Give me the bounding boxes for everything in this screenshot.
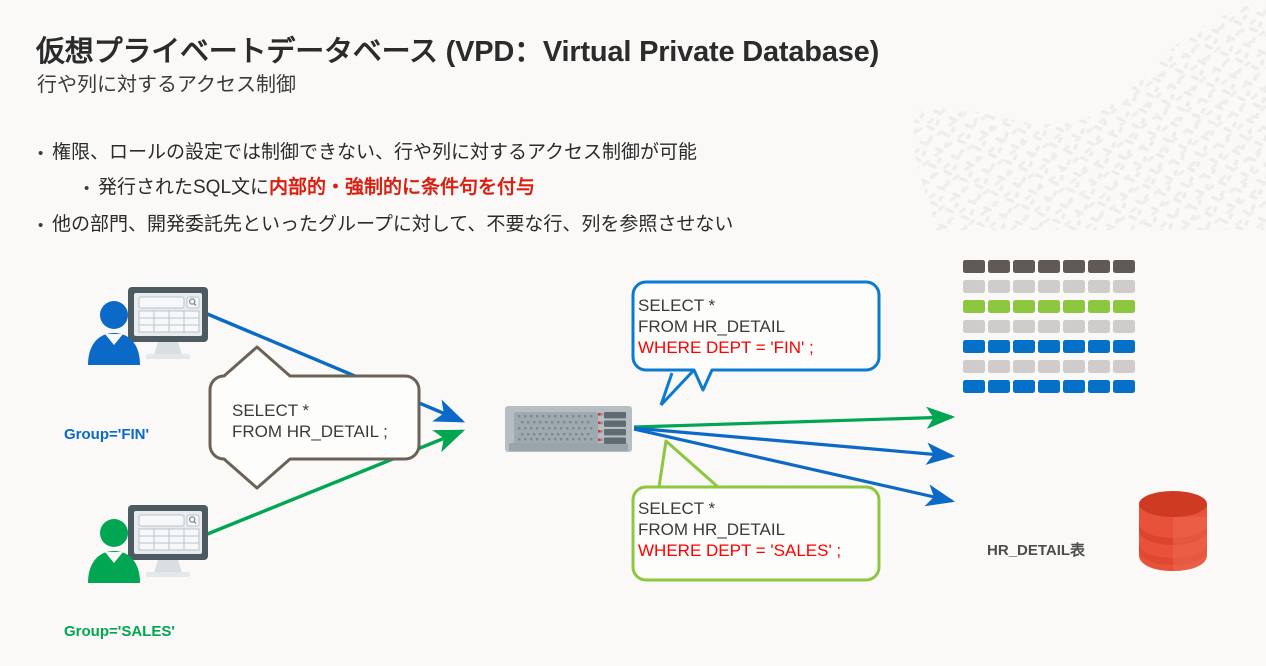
connector-server-to-sales-row (634, 417, 952, 427)
callout-client-query (210, 347, 419, 488)
database-server-icon (505, 406, 632, 452)
hr-detail-table-grid (963, 260, 1135, 393)
database-cylinder-icon (1139, 491, 1207, 571)
vpd-architecture-diagram: SELECT * FROM HR_DETAIL ; SELECT * FROM … (0, 255, 1266, 666)
background-texture (906, 0, 1266, 230)
table-row-4 (963, 340, 1135, 353)
user-sales-workstation (88, 505, 208, 583)
callout-fin-query (633, 282, 879, 405)
table-row-2 (963, 300, 1135, 313)
page-subtitle: 行や列に対するアクセス制御 (37, 68, 296, 97)
hr-detail-table-label: HR_DETAIL表 (987, 539, 1085, 560)
slide-root: 仮想プライベートデータベース (VPD：Virtual Private Data… (0, 0, 1266, 666)
table-row-1 (963, 280, 1135, 293)
group-label-sales: Group='SALES' (64, 623, 175, 640)
bullet-dot-icon: • (84, 181, 98, 196)
table-row-5 (963, 360, 1135, 373)
bullet-item-2: • 発行されたSQL文に 内部的・強制的に条件句を付与 (84, 172, 535, 199)
user-fin-workstation (88, 287, 208, 365)
table-row-3 (963, 320, 1135, 333)
group-label-fin: Group='FIN' (64, 426, 149, 443)
bullet-dot-icon: • (38, 146, 52, 161)
bullet-text: 他の部門、開発委託先といったグループに対して、不要な行、列を参照させない (52, 209, 733, 236)
bullet-text: 権限、ロールの設定では制御できない、行や列に対するアクセス制御が可能 (52, 137, 697, 164)
callout-sales-query (633, 441, 879, 580)
page-title: 仮想プライベートデータベース (VPD：Virtual Private Data… (36, 28, 879, 70)
table-row-0 (963, 260, 1135, 273)
bullet-item-3: • 他の部門、開発委託先といったグループに対して、不要な行、列を参照させない (38, 209, 733, 236)
connector-server-to-fin-row-1 (634, 428, 952, 456)
bullet-text: 発行されたSQL文に (98, 172, 269, 199)
bullet-text-emphasis: 内部的・強制的に条件句を付与 (269, 172, 535, 199)
bullet-item-1: • 権限、ロールの設定では制御できない、行や列に対するアクセス制御が可能 (38, 137, 697, 164)
bullet-dot-icon: • (38, 218, 52, 233)
table-row-6 (963, 380, 1135, 393)
